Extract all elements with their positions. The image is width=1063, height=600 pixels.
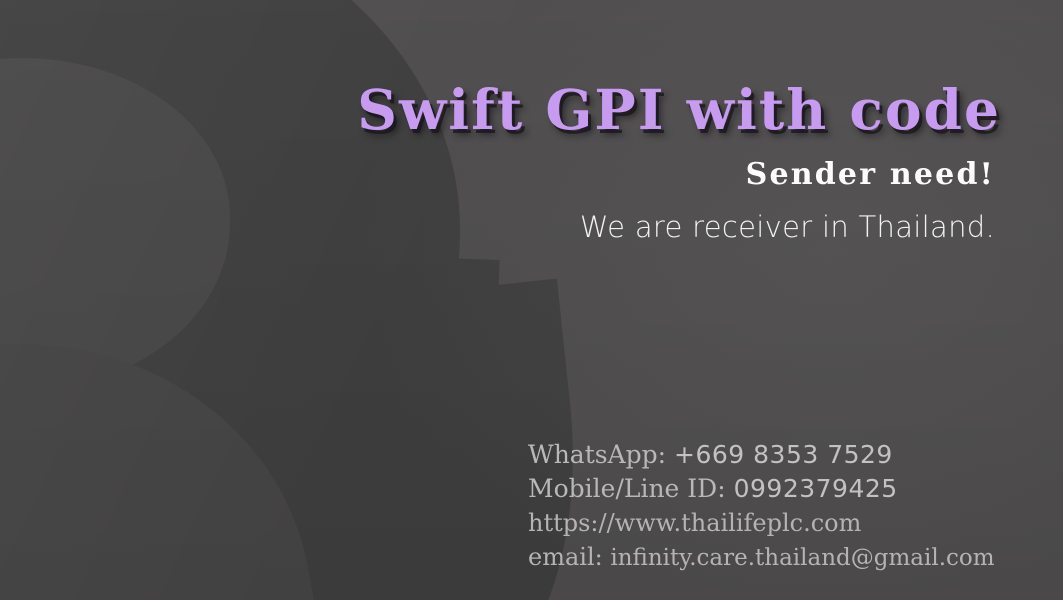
presentation-slide: Swift GPI with code Sender need! We are …	[0, 0, 1063, 600]
contact-row-email: email: infinity.care.thailand@gmail.com	[528, 540, 995, 575]
whatsapp-number[interactable]: +669 8353 7529	[674, 440, 893, 469]
email-address[interactable]: infinity.care.thailand@gmail.com	[610, 545, 994, 571]
slide-title: Swift GPI with code	[0, 82, 1001, 137]
contact-block: WhatsApp: +669 8353 7529 Mobile/Line ID:…	[528, 438, 995, 575]
email-label: email:	[528, 543, 603, 571]
contact-row-mobile: Mobile/Line ID: 0992379425	[528, 472, 995, 506]
mobile-line-id-number[interactable]: 0992379425	[734, 474, 898, 503]
whatsapp-label: WhatsApp:	[528, 440, 666, 469]
contact-row-website[interactable]: https://www.thailifeplc.com	[528, 506, 995, 540]
website-url[interactable]: https://www.thailifeplc.com	[528, 509, 861, 537]
slide-content: Swift GPI with code Sender need! We are …	[0, 0, 1063, 600]
contact-row-whatsapp: WhatsApp: +669 8353 7529	[528, 438, 995, 472]
slide-tagline: We are receiver in Thailand.	[0, 210, 995, 245]
mobile-line-id-label: Mobile/Line ID:	[528, 474, 726, 503]
slide-subtitle: Sender need!	[0, 158, 995, 192]
